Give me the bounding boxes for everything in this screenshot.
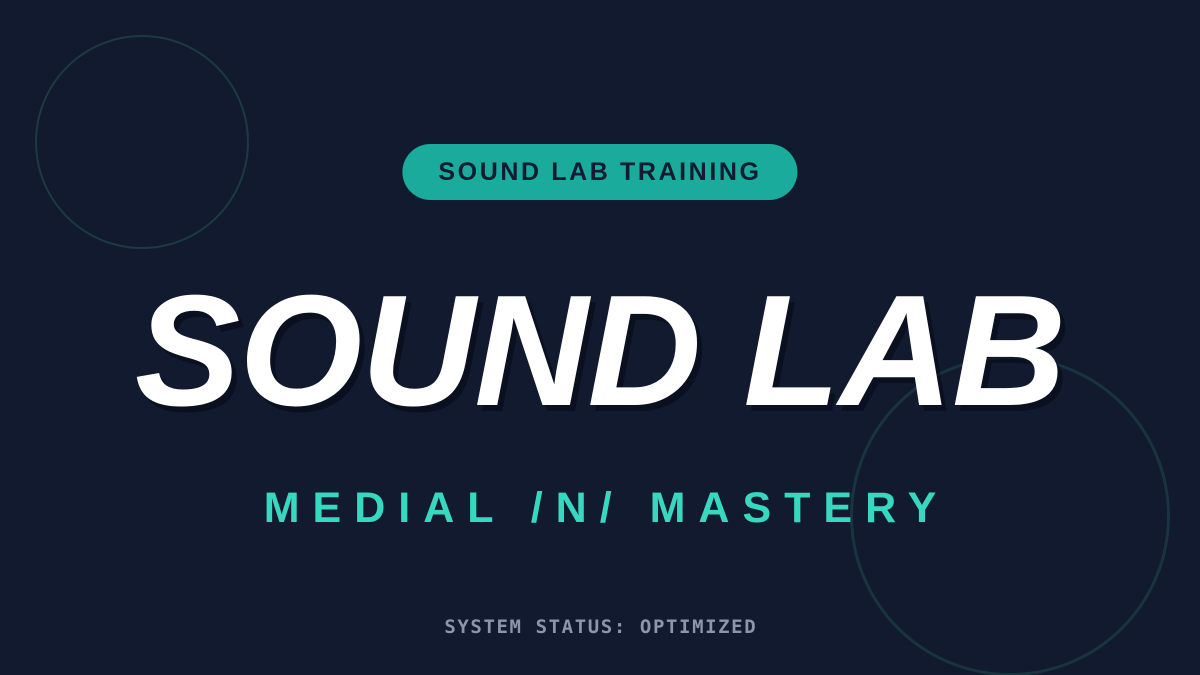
system-status-text: SYSTEM STATUS: OPTIMIZED	[0, 615, 1200, 639]
content-stack: SOUND LAB TRAINING SOUND LAB MEDIAL /N/ …	[0, 0, 1200, 675]
training-badge-label: SOUND LAB TRAINING	[438, 158, 761, 187]
training-badge: SOUND LAB TRAINING	[402, 144, 797, 200]
page-title: SOUND LAB	[0, 272, 1200, 430]
title-slide: SOUND LAB TRAINING SOUND LAB MEDIAL /N/ …	[0, 0, 1200, 675]
page-subtitle: MEDIAL /N/ MASTERY	[0, 484, 1200, 532]
